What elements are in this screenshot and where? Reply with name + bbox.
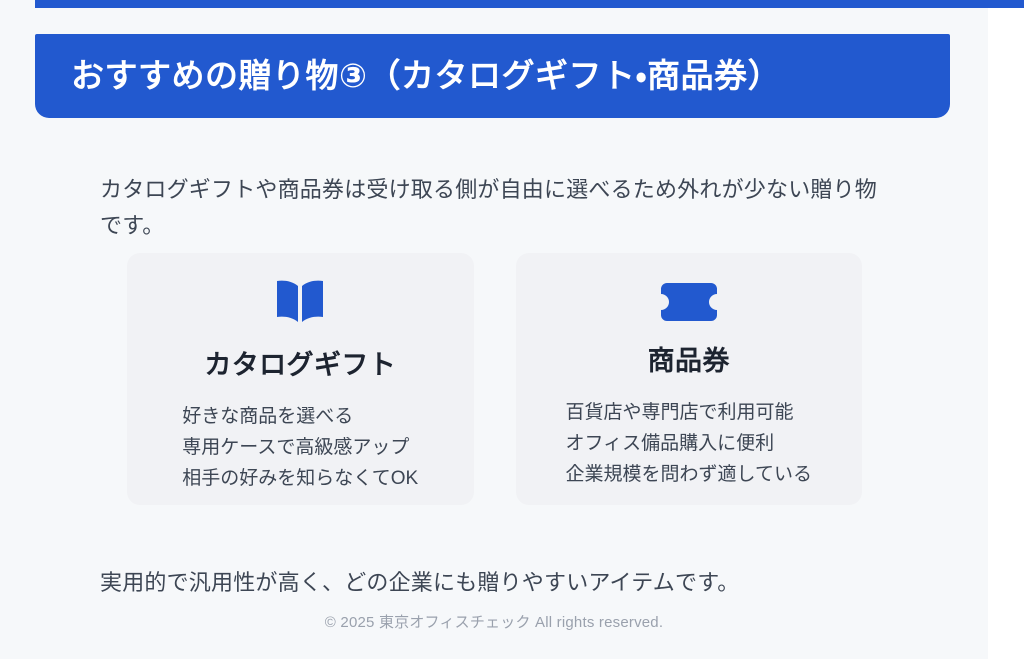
card-points: 好きな商品を選べる 専用ケースで高級感アップ 相手の好みを知らなくてOK: [182, 402, 418, 494]
open-book-icon: [268, 279, 332, 329]
copyright-notice: © 2025 東京オフィスチェック All rights reserved.: [0, 611, 988, 632]
card-point: オフィス備品購入に便利: [566, 429, 812, 460]
card-title: 商品券: [648, 339, 730, 378]
closing-paragraph: 実用的で汎用性が高く、どの企業にも贈りやすいアイテムです。: [100, 565, 900, 600]
card-point: 相手の好みを知らなくてOK: [182, 464, 418, 495]
header-banner: おすすめの贈り物③（カタログギフト・商品券）: [35, 34, 950, 118]
ticket-icon: [657, 279, 721, 325]
card-title: カタログギフト: [204, 343, 396, 382]
card-point: 企業規模を問わず適している: [566, 460, 812, 491]
top-accent-rule: [35, 0, 1024, 8]
slide-page: おすすめの贈り物③（カタログギフト・商品券） カタログギフトや商品券は受け取る側…: [0, 0, 1024, 659]
card-point: 専用ケースで高級感アップ: [182, 433, 418, 464]
card-point: 百貨店や専門店で利用可能: [566, 398, 812, 429]
page-title: おすすめの贈り物③（カタログギフト・商品券）: [71, 56, 781, 96]
card-points: 百貨店や専門店で利用可能 オフィス備品購入に便利 企業規模を問わず適している: [566, 398, 812, 490]
card-gift-certificate: 商品券 百貨店や専門店で利用可能 オフィス備品購入に便利 企業規模を問わず適して…: [516, 253, 863, 505]
card-catalog-gift: カタログギフト 好きな商品を選べる 専用ケースで高級感アップ 相手の好みを知らな…: [127, 253, 474, 505]
right-gutter: [988, 8, 1024, 659]
card-point: 好きな商品を選べる: [182, 402, 418, 433]
intro-paragraph: カタログギフトや商品券は受け取る側が自由に選べるため外れが少ない贈り物です。: [100, 172, 890, 243]
card-row: カタログギフト 好きな商品を選べる 専用ケースで高級感アップ 相手の好みを知らな…: [127, 253, 862, 505]
